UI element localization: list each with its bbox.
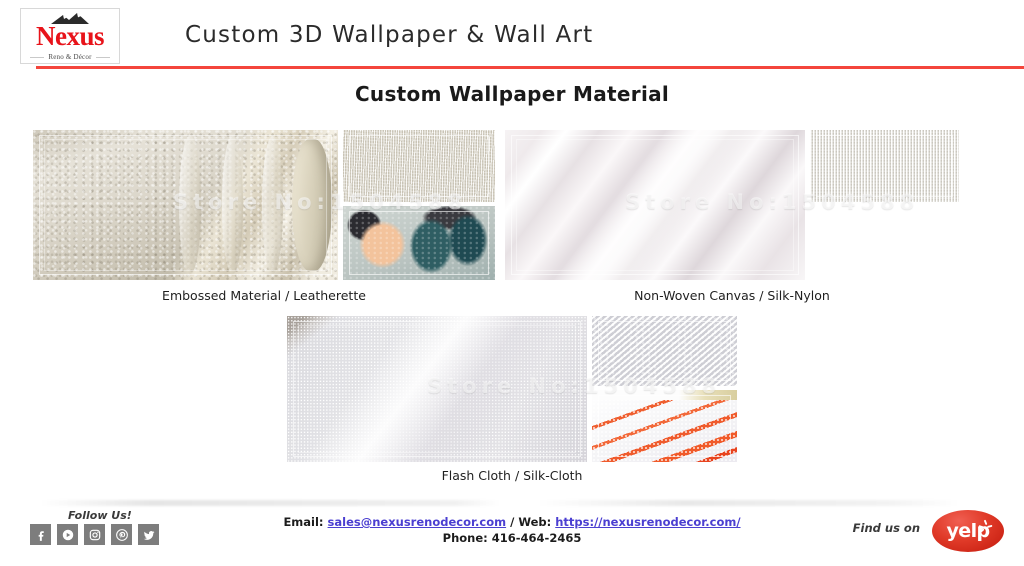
texture-overlay [343,206,495,280]
material-image-flash-cloth [287,316,587,462]
roll-edge [179,136,200,274]
texture-overlay [343,130,495,202]
material-swatch-embossed-texture [343,130,495,202]
material-caption: Flash Cloth / Silk-Cloth [287,468,737,483]
material-card-embossed[interactable]: Store No:1504588 Embossed Material / Lea… [33,130,495,308]
logo-wordmark: Nexus [36,23,104,50]
slide-canvas: Nexus Reno & Décor Custom 3D Wallpaper &… [0,0,1024,566]
material-swatch-dotted-weave [592,316,737,386]
material-swatch-orange-stripe [592,390,737,462]
material-image-embossed-roll [33,130,338,280]
material-caption: Non-Woven Canvas / Silk-Nylon [505,288,959,303]
material-swatch-embossed-mural [343,206,495,280]
material-card-nonwoven[interactable]: Store No:1504588 Non-Woven Canvas / Silk… [505,130,959,308]
find-us-label: Find us on [853,521,920,535]
website-link[interactable]: https://nexusrenodecor.com/ [555,515,740,529]
roll-edge [262,136,283,274]
material-swatch-teal-floral [810,206,959,280]
material-swatch-woven-mesh [810,130,959,202]
material-card-flashcloth[interactable]: Store No:1504588 Flash Cloth / Silk-Clot… [287,316,737,488]
material-image-silk-drape [505,130,805,280]
header-divider [36,66,1024,69]
texture-overlay [810,130,959,202]
page-title: Custom 3D Wallpaper & Wall Art [185,22,593,48]
yelp-badge[interactable]: yelp [932,510,1004,552]
brand-logo[interactable]: Nexus Reno & Décor [20,8,120,64]
contact-separator: / Web: [510,515,551,529]
page-header: Nexus Reno & Décor Custom 3D Wallpaper &… [0,0,1024,70]
texture-overlay [592,390,737,462]
texture-overlay [592,316,737,386]
sheet-edge [592,390,737,400]
email-link[interactable]: sales@nexusrenodecor.com [328,515,507,529]
material-caption: Embossed Material / Leatherette [33,288,495,303]
yelp-burst-icon [977,519,994,536]
roll-core [292,139,332,271]
floral-print [810,206,959,280]
email-label: Email: [283,515,323,529]
sheen-overlay [505,130,805,280]
sheen-overlay [287,316,587,462]
logo-tagline: Reno & Décor [48,53,91,61]
section-title: Custom Wallpaper Material [0,82,1024,106]
footer-divider [40,500,960,506]
